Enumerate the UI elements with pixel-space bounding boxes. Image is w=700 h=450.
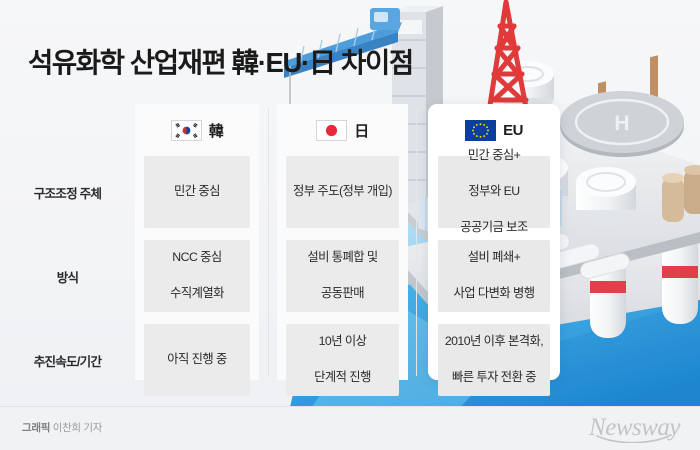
cell-jp-1: 설비 통폐합 및공동판매 bbox=[286, 240, 399, 312]
cell-eu-0: 민간 중심+정부와 EU공공기금 보조 bbox=[438, 156, 550, 228]
cell-eu-2: 2010년 이후 본격화,빠른 투자 전환 중 bbox=[438, 324, 550, 396]
row-label-1: 방식 bbox=[0, 240, 135, 312]
derrick-tower bbox=[488, 2, 528, 118]
cell-jp-0: 정부 주도(정부 개입) bbox=[286, 156, 399, 228]
comparison-table: 구조조정 주체 방식 추진속도/기간 bbox=[0, 104, 576, 380]
column-eu: EU 민간 중심+정부와 EU공공기금 보조 설비 폐쇄+사업 다변화 병행 2… bbox=[428, 104, 560, 380]
eu-flag-icon bbox=[465, 120, 496, 141]
cell-kr-1: NCC 중심수직계열화 bbox=[144, 240, 250, 312]
row-label-2: 추진속도/기간 bbox=[0, 324, 135, 396]
page-title: 석유화학 산업재편 韓·EU·日 차이점 bbox=[28, 40, 413, 80]
column-japan: 日 정부 주도(정부 개입) 설비 통폐합 및공동판매 10년 이상단계적 진행 bbox=[277, 104, 408, 380]
cell-jp-2: 10년 이상단계적 진행 bbox=[286, 324, 399, 396]
cell-eu-1: 설비 폐쇄+사업 다변화 병행 bbox=[438, 240, 550, 312]
japan-flag-icon bbox=[316, 120, 347, 141]
newsway-logo: Newsway bbox=[589, 415, 680, 440]
helipad: H bbox=[560, 91, 684, 157]
row-label-column: 구조조정 주체 방식 추진속도/기간 bbox=[0, 104, 135, 380]
logo-swash-icon bbox=[595, 434, 673, 443]
column-korea: 韓 민간 중심 NCC 중심수직계열화 아직 진행 중 bbox=[135, 104, 259, 380]
column-divider-2 bbox=[416, 108, 417, 376]
svg-text:H: H bbox=[614, 112, 629, 135]
country-name-eu: EU bbox=[503, 122, 523, 139]
row-label-0: 구조조정 주체 bbox=[0, 156, 135, 228]
cell-kr-2: 아직 진행 중 bbox=[144, 324, 250, 396]
korea-flag-icon bbox=[171, 120, 202, 141]
column-divider-1 bbox=[268, 108, 269, 376]
credit-label: 그래픽 bbox=[22, 422, 50, 434]
credit-author: 이찬희 기자 bbox=[50, 422, 102, 434]
column-header-japan: 日 bbox=[277, 104, 408, 156]
country-name-korea: 韓 bbox=[209, 120, 224, 141]
country-name-japan: 日 bbox=[354, 120, 369, 141]
graphic-credit: 그래픽 이찬희 기자 bbox=[22, 420, 102, 435]
cell-kr-0: 민간 중심 bbox=[144, 156, 250, 228]
column-header-korea: 韓 bbox=[135, 104, 259, 156]
